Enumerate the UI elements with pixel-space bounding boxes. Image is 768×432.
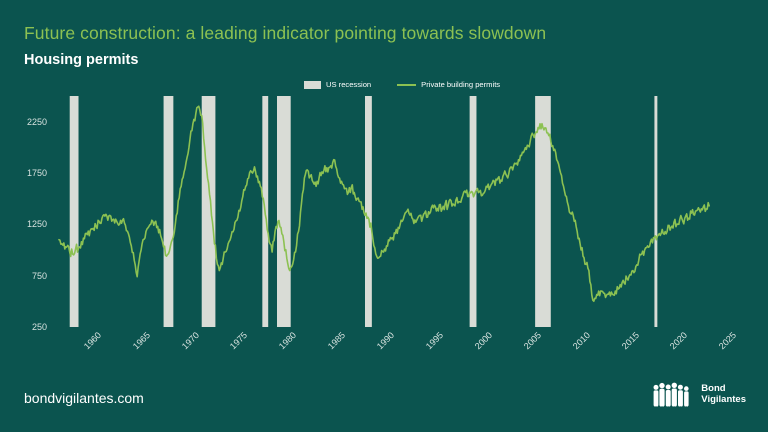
page-title: Future construction: a leading indicator… xyxy=(24,23,546,44)
chart-svg xyxy=(57,96,717,327)
recession-band xyxy=(470,96,477,327)
recession-swatch-icon xyxy=(304,81,321,89)
x-axis-tick: 2005 xyxy=(522,330,543,351)
recession-band xyxy=(70,96,79,327)
recession-band xyxy=(654,96,657,327)
plot-area xyxy=(57,96,717,327)
x-axis-tick: 1995 xyxy=(424,330,445,351)
chart-subtitle: Housing permits xyxy=(24,52,138,68)
footer-url[interactable]: bondvigilantes.com xyxy=(24,390,144,406)
x-axis-tick: 1965 xyxy=(131,330,152,351)
recession-band xyxy=(164,96,174,327)
x-axis-tick: 1985 xyxy=(326,330,347,351)
legend-item-recession: US recession xyxy=(304,80,371,89)
x-axis-tick: 2015 xyxy=(619,330,640,351)
recession-band xyxy=(277,96,291,327)
legend-item-permits: Private building permits xyxy=(397,80,500,89)
people-group-icon xyxy=(652,382,694,408)
x-axis-tick: 2000 xyxy=(473,330,494,351)
y-axis: 250750125017502250 xyxy=(0,96,52,327)
x-axis-tick: 1980 xyxy=(277,330,298,351)
brand-line-2: Vigilantes xyxy=(701,395,746,406)
legend-label-permits: Private building permits xyxy=(421,80,500,89)
permits-line xyxy=(59,106,709,301)
x-axis-tick: 2020 xyxy=(668,330,689,351)
y-axis-tick: 1750 xyxy=(27,168,47,178)
brand-logo: Bond Vigilantes xyxy=(652,382,746,408)
x-axis-tick: 2010 xyxy=(571,330,592,351)
chart-page: Future construction: a leading indicator… xyxy=(0,0,768,432)
x-axis-tick: 1960 xyxy=(82,330,103,351)
x-axis-tick: 2025 xyxy=(717,330,738,351)
brand-name: Bond Vigilantes xyxy=(701,384,746,405)
x-axis-tick: 1970 xyxy=(179,330,200,351)
recession-band xyxy=(365,96,372,327)
legend-label-recession: US recession xyxy=(326,80,371,89)
y-axis-tick: 750 xyxy=(32,271,47,281)
x-axis-tick: 1990 xyxy=(375,330,396,351)
x-axis: 1960196519701975198019851990199520002005… xyxy=(57,330,717,370)
permits-line-swatch-icon xyxy=(397,84,416,86)
y-axis-tick: 250 xyxy=(32,322,47,332)
x-axis-tick: 1975 xyxy=(228,330,249,351)
y-axis-tick: 1250 xyxy=(27,219,47,229)
y-axis-tick: 2250 xyxy=(27,117,47,127)
chart-legend: US recession Private building permits xyxy=(304,80,500,89)
